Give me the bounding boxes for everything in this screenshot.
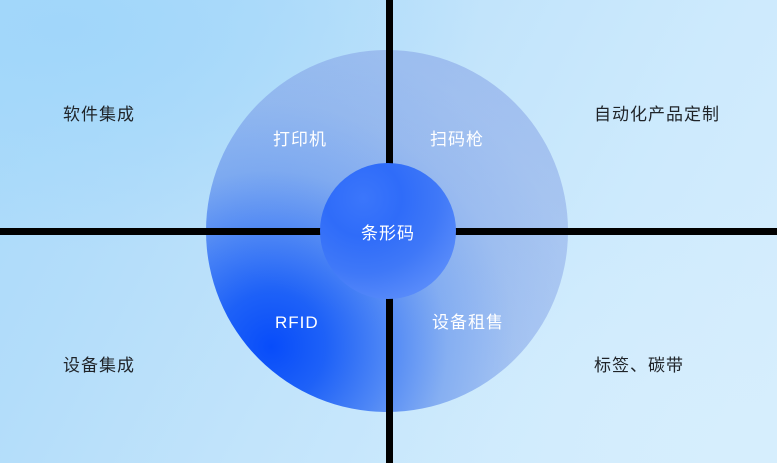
quadrant-label-software-integration: 软件集成: [63, 106, 135, 123]
ring-label-rfid: RFID: [275, 314, 319, 331]
quadrant-label-automation-customization: 自动化产品定制: [594, 106, 720, 123]
quadrant-label-labels-ribbons: 标签、碳带: [594, 357, 684, 374]
center-circle: 条形码: [320, 163, 456, 299]
quadrant-label-equipment-integration: 设备集成: [63, 357, 135, 374]
ring-label-printer: 打印机: [273, 131, 327, 148]
ring-label-scanner: 扫码枪: [430, 131, 484, 148]
center-circle-label: 条形码: [361, 219, 415, 244]
quadrant-diagram: 条形码 打印机 扫码枪 RFID 设备租售 软件集成 自动化产品定制 设备集成 …: [0, 0, 777, 463]
ring-label-equipment-rental: 设备租售: [432, 314, 504, 331]
